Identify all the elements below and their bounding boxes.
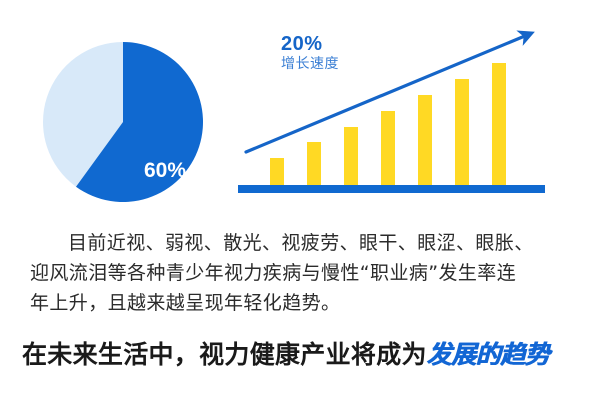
bar-item [381, 111, 395, 185]
pie-chart: 60% [43, 42, 203, 202]
bar-item [455, 79, 469, 185]
charts-region: 60% [0, 0, 600, 215]
infographic-page: 60% [0, 0, 600, 400]
chart-baseline [238, 185, 545, 193]
bar-item [307, 142, 321, 185]
bar-chart [230, 22, 560, 202]
headline-plain-text: 在未来生活中，视力健康产业将成为 [22, 340, 427, 369]
headline-accent-text: 发展的趋势 [427, 340, 550, 369]
bar-item [418, 95, 432, 185]
bar-item [344, 127, 358, 185]
bar-series [270, 63, 506, 185]
pie-slice-label: 60% [131, 160, 199, 181]
growth-callout: 20% 增长速度 [281, 33, 339, 72]
bar-item [270, 158, 284, 185]
growth-rate-value: 20% [281, 33, 339, 55]
paragraph-line: 年上升，且越来越呈现年轻化趋势。 [30, 288, 575, 318]
body-paragraph: 目前近视、弱视、散光、视疲劳、眼干、眼涩、眼胀、 迎风流泪等各种青少年视力疾病与… [30, 228, 575, 318]
headline: 在未来生活中，视力健康产业将成为发展的趋势 [22, 338, 592, 372]
paragraph-line: 迎风流泪等各种青少年视力疾病与慢性“职业病”发生率连 [30, 258, 575, 288]
bar-item [492, 63, 506, 185]
paragraph-line: 目前近视、弱视、散光、视疲劳、眼干、眼涩、眼胀、 [30, 228, 575, 258]
growth-rate-caption: 增长速度 [281, 56, 339, 72]
